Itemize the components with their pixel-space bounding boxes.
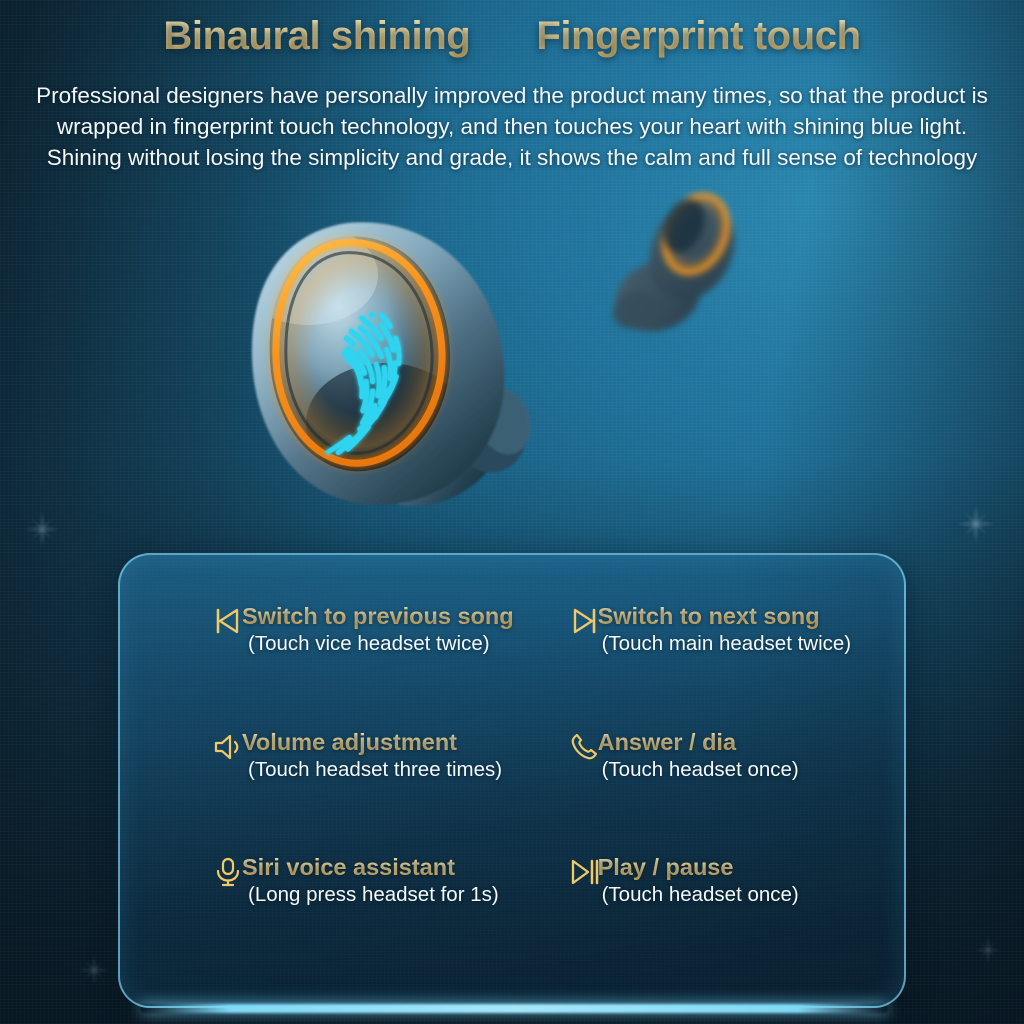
intro-paragraph: Professional designers have personally i… (28, 80, 996, 173)
heading-fingerprint-touch: Fingerprint touch (536, 14, 860, 59)
feature-hint: (Touch headset once) (602, 757, 799, 783)
feature-play-pause: Play / pause (Touch headset once) (514, 850, 868, 976)
microphone-icon (212, 856, 244, 888)
sparkle-icon (968, 930, 1008, 970)
feature-title: Siri voice assistant (242, 854, 499, 881)
feature-previous-song: Switch to previous song (Touch vice head… (156, 599, 514, 725)
play-pause-icon (568, 856, 600, 888)
feature-title: Switch to next song (598, 603, 852, 630)
secondary-earbud-image (596, 178, 786, 343)
next-track-icon (568, 605, 600, 637)
feature-title: Play / pause (598, 854, 799, 881)
feature-text: Answer / dia (Touch headset once) (598, 729, 799, 783)
phone-handset-icon (568, 731, 600, 763)
feature-title: Answer / dia (598, 729, 799, 756)
feature-hint: (Touch headset once) (602, 882, 799, 908)
feature-volume-adjustment: Volume adjustment (Touch headset three t… (156, 725, 514, 851)
feature-panel: Switch to previous song (Touch vice head… (118, 553, 906, 1008)
feature-hint: (Touch headset three times) (248, 757, 502, 783)
feature-siri-voice-assistant: Siri voice assistant (Long press headset… (156, 850, 514, 976)
previous-track-icon (212, 605, 244, 637)
feature-next-song: Switch to next song (Touch main headset … (514, 599, 868, 725)
feature-text: Volume adjustment (Touch headset three t… (242, 729, 502, 783)
headings-row: Binaural shining Fingerprint touch (0, 14, 1024, 59)
feature-text: Switch to previous song (Touch vice head… (242, 603, 514, 657)
volume-speaker-icon (212, 731, 244, 763)
feature-hint: (Long press headset for 1s) (248, 882, 499, 908)
feature-text: Switch to next song (Touch main headset … (598, 603, 852, 657)
sparkle-icon (950, 498, 1002, 550)
feature-hint: (Touch main headset twice) (602, 631, 852, 657)
sparkle-icon (72, 948, 116, 992)
sparkle-icon (18, 505, 66, 553)
feature-title: Volume adjustment (242, 729, 502, 756)
feature-hint: (Touch vice headset twice) (248, 631, 514, 657)
feature-title: Switch to previous song (242, 603, 514, 630)
feature-text: Siri voice assistant (Long press headset… (242, 854, 499, 908)
feature-text: Play / pause (Touch headset once) (598, 854, 799, 908)
product-feature-banner: Binaural shining Fingerprint touch Profe… (0, 0, 1024, 1024)
main-earbud-image (236, 213, 566, 513)
panel-underglow-line (140, 1004, 888, 1013)
heading-binaural-shining: Binaural shining (163, 14, 470, 59)
feature-answer-dial: Answer / dia (Touch headset once) (514, 725, 868, 851)
